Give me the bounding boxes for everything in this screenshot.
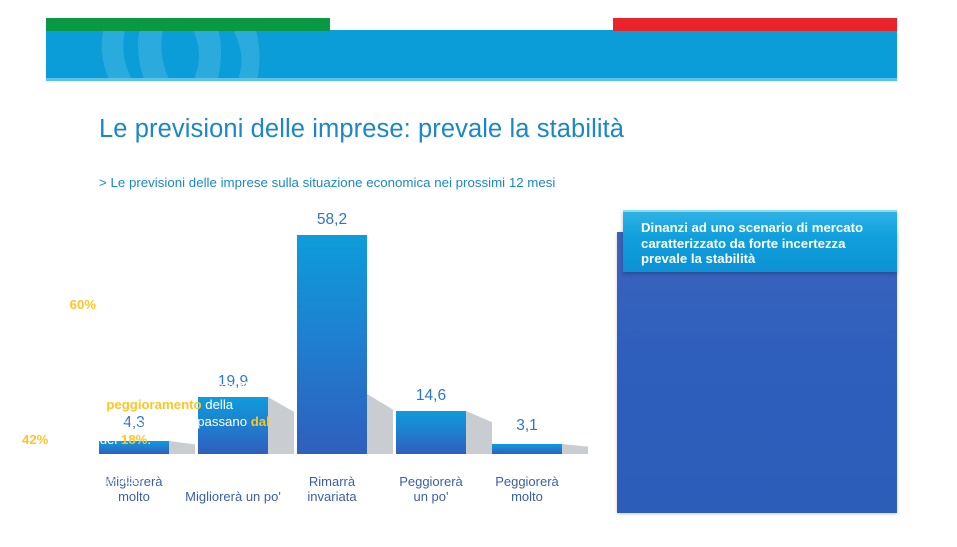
italy-flag-red-strip [613,18,897,31]
callout-p2-part4: . [147,432,151,447]
bar-label-2: Rimarrà invariata [278,474,386,504]
bar-label-3-line2: un po' [413,489,448,504]
callout-p2-part3: a meno del [48,432,121,447]
callout-p2-highlight-18: 18% [121,432,147,447]
unioncamere-watermark-logo [94,30,324,78]
callout-header-banner: Dinanzi ad uno scenario di mercato carat… [623,210,897,272]
callout-header-text: Dinanzi ad uno scenario di mercato carat… [641,220,889,267]
bar-value-3: 14,6 [396,387,466,405]
bar-4 [492,444,562,454]
bar-value-2: 58,2 [297,211,367,229]
bar-shadow-2 [367,394,393,454]
bar-label-2-line2: invariata [307,489,356,504]
callout-p1-part1: Quasi il [22,297,70,312]
bar-value-4: 3,1 [492,417,562,435]
callout-paragraph-1: Quasi il 60% delle imprese prevede che l… [22,296,272,331]
source-note: Fonte: Indagine IPSOS-Unioncamere -Tagli… [22,462,277,488]
source-note-line1: Fonte: Indagine IPSOS-Unioncamere [22,463,193,474]
bar-label-4-line1: Peggiorerà [495,474,559,489]
bar-2 [297,235,367,454]
page-subtitle: > Le previsioni delle imprese sulla situ… [99,175,555,190]
bar-label-0-line2: molto [118,489,150,504]
header-underline [46,78,897,81]
bar-shadow-3 [466,411,492,454]
callout-p2-highlight-peggioramento: peggioramento [106,397,201,412]
bar-label-3-line1: Peggiorerà [399,474,463,489]
bar-label-1: Migliorerà un po' [179,489,287,504]
bar-label-2-line1: Rimarrà [309,474,355,489]
header-band [46,30,897,78]
bar-shadow-4 [562,444,588,454]
callout-paragraph-2: Rispetto allo scorso anno le imprese che… [22,378,272,448]
bar-label-1-line1: Migliorerà un po' [185,489,281,504]
bar-label-3: Peggiorerà un po' [377,474,485,504]
page-title: Le previsioni delle imprese: prevale la … [99,115,624,144]
bar-3 [396,411,466,454]
italy-flag-green-strip [46,18,330,31]
bar-label-4: Peggiorerà molto [473,474,581,504]
bar-label-4-line2: molto [511,489,543,504]
source-note-line2: -Tagliacame, ottobre 2023 [22,476,141,487]
callout-panel [617,232,897,513]
callout-p1-highlight-60: 60% [70,297,96,312]
